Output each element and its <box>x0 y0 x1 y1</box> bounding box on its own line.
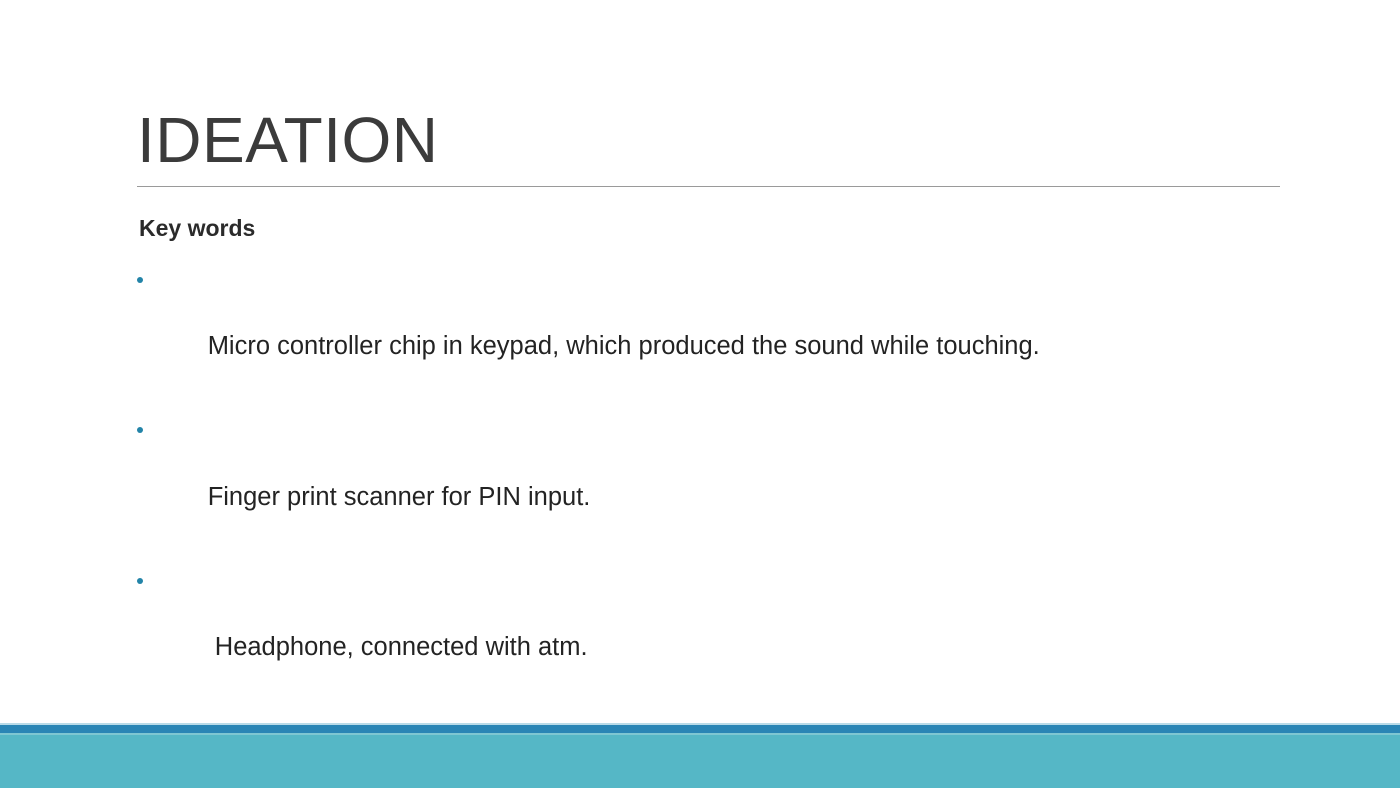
list-item: Finger print scanner for PIN input. <box>137 414 1297 547</box>
page-title: IDEATION <box>137 108 1280 173</box>
slide-canvas: IDEATION Key words Micro controller chip… <box>0 0 1400 788</box>
body-content: Key words Micro controller chip in keypa… <box>137 214 1297 788</box>
footer-band-light <box>0 735 1400 788</box>
bullet-dot-icon <box>137 427 143 433</box>
subheading-key-words: Key words <box>139 214 1297 243</box>
title-divider <box>137 186 1280 187</box>
bullet-dot-icon <box>137 277 143 283</box>
bullet-dot-icon <box>137 578 143 584</box>
list-item: Micro controller chip in keypad, which p… <box>137 264 1297 397</box>
list-item-text: Headphone, connected with atm. <box>208 633 588 661</box>
list-item-text: Finger print scanner for PIN input. <box>208 483 591 511</box>
footer-band-dark <box>0 725 1400 733</box>
title-block: IDEATION <box>137 108 1280 187</box>
list-item: Headphone, connected with atm. <box>137 565 1297 698</box>
footer-decoration <box>0 723 1400 788</box>
bullet-list: Micro controller chip in keypad, which p… <box>137 264 1297 788</box>
list-item-text: Micro controller chip in keypad, which p… <box>208 332 1040 360</box>
